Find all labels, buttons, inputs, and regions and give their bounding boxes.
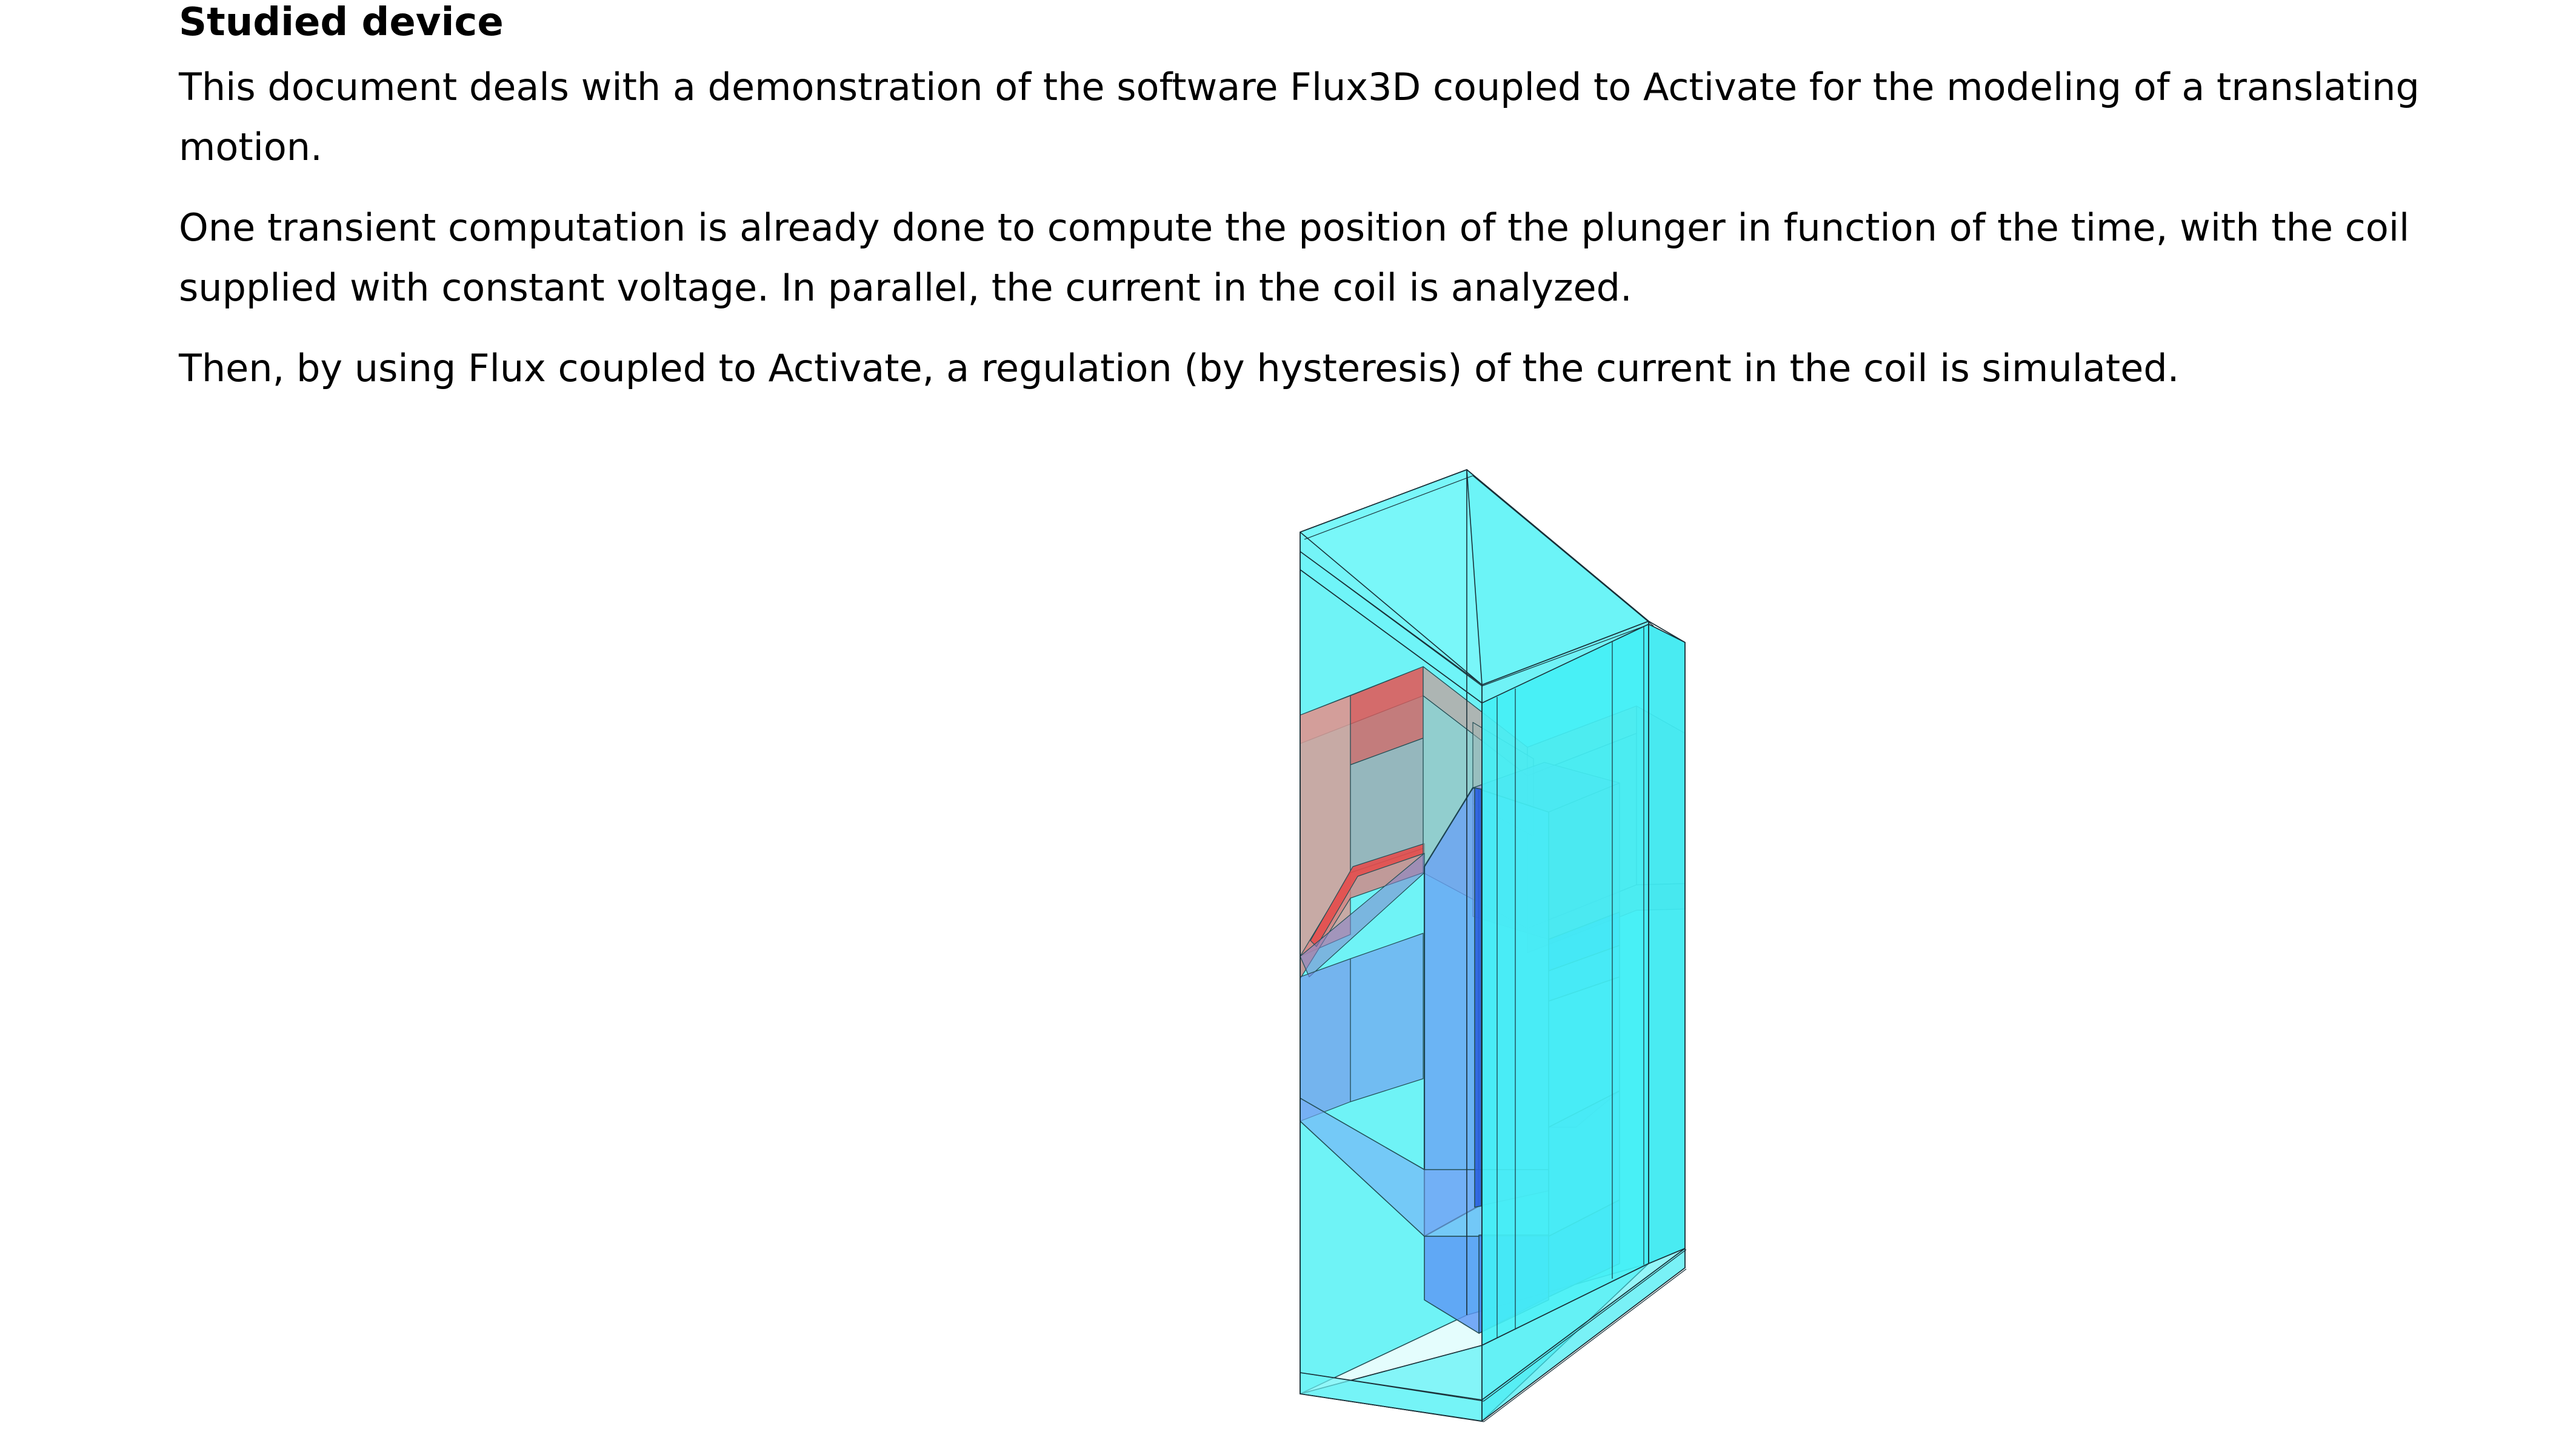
text-column: Studied device This document deals with … (179, 0, 2434, 398)
device-3d-canvas: .e { stroke:#1A3038; stroke-width:1.6; s… (1273, 448, 1697, 1442)
spacer-paragraph-1 (179, 177, 2434, 198)
spacer-paragraph-2 (179, 318, 2434, 338)
paragraph-transient-computation: One transient computation is already don… (179, 198, 2434, 318)
spacer-after-title (179, 46, 2434, 57)
paragraph-intro: This document deals with a demonstration… (179, 57, 2434, 177)
studied-device-3d-figure: .e { stroke:#1A3038; stroke-width:1.6; s… (1273, 448, 1697, 1442)
paragraph-regulation: Then, by using Flux coupled to Activate,… (179, 338, 2434, 398)
document-page: Studied device This document deals with … (0, 0, 2576, 1449)
page-title: Studied device (179, 0, 2434, 46)
